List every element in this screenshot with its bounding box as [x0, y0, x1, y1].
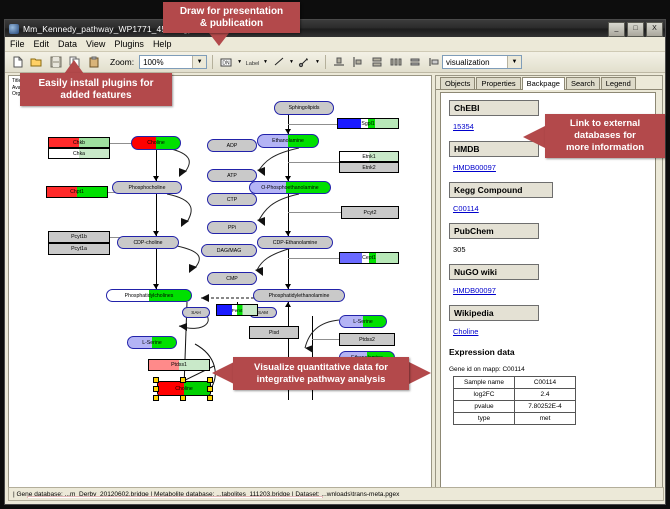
- node-pemt[interactable]: Pemt: [216, 304, 258, 316]
- menu-help[interactable]: Help: [153, 39, 172, 49]
- node-label: O-Phosphoethanolamine: [261, 185, 318, 191]
- db-header-nugo: NuGO wiki: [449, 264, 539, 280]
- db-value-pubchem: 305: [453, 245, 466, 254]
- node-label: Etnk2: [362, 165, 375, 171]
- stack-center-icon[interactable]: [369, 54, 386, 71]
- node-chpt1[interactable]: Chpt1: [46, 186, 108, 198]
- node-choline-selected[interactable]: Choline: [157, 381, 211, 396]
- node-label: Pcyt1a: [71, 246, 87, 252]
- node-dag-mag[interactable]: DAG/MAG: [201, 244, 257, 257]
- node-ctp[interactable]: CTP: [207, 193, 257, 206]
- db-header-kegg: Kegg Compound: [449, 182, 553, 198]
- svg-text:DN: DN: [222, 61, 230, 67]
- node-label: Chpt1: [70, 189, 84, 195]
- callout-draw: Draw for presentation& publication: [163, 2, 300, 33]
- menu-data[interactable]: Data: [58, 39, 77, 49]
- edge-cdpcholine-ptdcholine: [156, 249, 157, 289]
- line-icon[interactable]: [270, 54, 287, 71]
- node-label: Pisd: [269, 330, 279, 336]
- node-ppi[interactable]: PPi: [207, 221, 257, 234]
- node-label: ATP: [227, 173, 237, 179]
- db-link-chebi[interactable]: 15354: [453, 122, 474, 131]
- tab-search[interactable]: Search: [566, 77, 600, 89]
- node-ethanolamine[interactable]: Ethanolamine: [257, 134, 319, 148]
- node-ptdss1[interactable]: Ptdss1: [148, 359, 210, 371]
- db-link-wikipedia[interactable]: Choline: [453, 327, 478, 336]
- align-left-icon[interactable]: [350, 54, 367, 71]
- node-label: SAM: [258, 310, 268, 315]
- table-cell-value: 2.4: [515, 389, 576, 401]
- distribute-icon[interactable]: [388, 54, 405, 71]
- connector-sgpl1: [288, 124, 337, 125]
- node-label: Choline: [175, 386, 193, 392]
- tool-bar: Zoom: 100% ▼ DN ▼ Label ▼ ▼ ▼: [5, 52, 665, 73]
- db-header-chebi: ChEBI: [449, 100, 539, 116]
- align-top-icon[interactable]: [331, 54, 348, 71]
- screenshot-root: Mm_Kennedy_pathway_WP1771_45176.gpml - P…: [0, 0, 670, 509]
- menu-bar: File Edit Data View Plugins Help: [5, 37, 665, 52]
- node-label: Phosphatidylcholines: [125, 293, 174, 299]
- node-label: Pcyt1b: [71, 234, 87, 240]
- node-label: Ptdss1: [171, 362, 187, 368]
- db-link-nugo[interactable]: HMDB00097: [453, 286, 496, 295]
- node-l-serine-left[interactable]: L-Serine: [127, 336, 177, 349]
- callout-plugins-text: Easily install plugins foradded features: [38, 78, 153, 102]
- expression-data-table: Sample name C00114 log2FC 2.4 pvalue 7.8…: [453, 376, 576, 425]
- open-folder-icon[interactable]: [28, 54, 45, 71]
- node-l-serine-right[interactable]: L-Serine: [339, 315, 387, 328]
- zoom-value: 100%: [143, 58, 163, 67]
- toolbar-separator-2: [325, 55, 326, 69]
- chevron-down-icon[interactable]: ▼: [192, 56, 206, 68]
- table-row: type met: [454, 413, 576, 425]
- svg-text:Label: Label: [246, 61, 260, 67]
- node-cdp-choline[interactable]: CDP-choline: [117, 236, 179, 249]
- connector-ptdss2: [312, 339, 339, 340]
- node-sphingolipids[interactable]: Sphingolipids: [274, 101, 334, 115]
- table-cell-value: 7.80252E-4: [515, 401, 576, 413]
- node-label: Choline: [147, 140, 165, 146]
- common-width-icon[interactable]: [407, 54, 424, 71]
- tab-properties[interactable]: Properties: [476, 77, 520, 89]
- maximize-button[interactable]: □: [627, 22, 644, 37]
- chevron-down-icon-line[interactable]: ▼: [289, 59, 294, 65]
- edge-ophospho-cdpetn: [288, 194, 289, 236]
- node-label: Ethanolamine: [272, 138, 304, 144]
- node-label: Chkb: [73, 140, 85, 146]
- table-cell-value: C00114: [515, 377, 576, 389]
- callout-links: Link to externaldatabases formore inform…: [545, 114, 665, 158]
- tab-objects[interactable]: Objects: [440, 77, 475, 89]
- callout-plugins: Easily install plugins foradded features: [20, 73, 172, 106]
- node-label: Cept1: [362, 255, 376, 261]
- node-label: CMP: [226, 276, 238, 282]
- node-label: Sphingolipids: [289, 105, 320, 111]
- menu-view[interactable]: View: [86, 39, 105, 49]
- node-sah[interactable]: SAH: [182, 307, 210, 318]
- paste-icon[interactable]: [85, 54, 102, 71]
- toolbar-separator: [212, 55, 213, 69]
- node-phosphatidylethanolamine[interactable]: Phosphatidylethanolamine: [253, 289, 345, 302]
- connector-etnk: [288, 162, 339, 163]
- node-label: ADP: [227, 143, 238, 149]
- node-cmp[interactable]: CMP: [207, 272, 257, 285]
- node-phosphocholine[interactable]: Phosphocholine: [112, 181, 182, 194]
- node-label: L-Serine: [353, 319, 373, 325]
- menu-plugins[interactable]: Plugins: [114, 39, 144, 49]
- new-file-icon[interactable]: [9, 54, 26, 71]
- node-label: Sgpl1: [361, 121, 374, 127]
- node-label: Pcyt2: [364, 210, 377, 216]
- node-label: Phosphocholine: [129, 185, 166, 191]
- callout-visualize-arrow-left-icon: [212, 362, 234, 384]
- tab-legend[interactable]: Legend: [601, 77, 636, 89]
- chevron-down-icon-interaction[interactable]: ▼: [315, 59, 320, 65]
- visualization-value: visualization: [446, 58, 490, 67]
- callout-draw-arrow-icon: [209, 33, 229, 46]
- pathway-canvas[interactable]: Title: Availab Organis: [8, 75, 432, 499]
- node-label: CDP-choline: [133, 240, 162, 246]
- connector-pcyt2: [288, 212, 341, 213]
- menu-file[interactable]: File: [10, 39, 25, 49]
- edge-phosphocholine-cdpcholine: [156, 194, 157, 236]
- status-bar: | Gene database: ...m_Derby_20120602.bri…: [8, 487, 664, 501]
- db-header-wikipedia: Wikipedia: [449, 305, 539, 321]
- table-row: Sample name C00114: [454, 377, 576, 389]
- node-adp[interactable]: ADP: [207, 139, 257, 152]
- node-atp[interactable]: ATP: [207, 169, 257, 182]
- node-label: CDP-Ethanolamine: [273, 240, 317, 246]
- node-chka[interactable]: Chka: [48, 148, 110, 159]
- callout-visualize-text: Visualize quantitative data forintegrati…: [254, 362, 388, 386]
- interaction-icon[interactable]: [296, 54, 313, 71]
- callout-draw-text: Draw for presentation& publication: [180, 6, 283, 30]
- callout-links-text: Link to externaldatabases formore inform…: [566, 118, 644, 154]
- callout-visualize-arrow-right-icon: [409, 362, 431, 384]
- node-pcyt1a[interactable]: Pcyt1a: [48, 243, 110, 255]
- table-cell-key: type: [454, 413, 515, 425]
- table-cell-key: log2FC: [454, 389, 515, 401]
- node-label: Ptdss2: [359, 337, 375, 343]
- connector-cept1: [288, 258, 339, 259]
- window-buttons: _ □ X: [608, 22, 663, 37]
- node-label: SAH: [191, 310, 200, 315]
- edge-cdpetn-ptdetn: [288, 249, 289, 289]
- chevron-down-icon-visualization[interactable]: ▼: [507, 56, 521, 68]
- node-label: DAG/MAG: [217, 248, 242, 254]
- db-link-hmdb[interactable]: HMDB00097: [453, 163, 496, 172]
- zoom-label: Zoom:: [110, 57, 134, 67]
- zoom-combo[interactable]: 100% ▼: [139, 55, 207, 69]
- callout-visualize: Visualize quantitative data forintegrati…: [233, 357, 409, 390]
- node-pisd[interactable]: Pisd: [249, 326, 299, 339]
- node-cept1[interactable]: Cept1: [339, 252, 399, 264]
- node-label: Phosphatidylethanolamine: [269, 293, 330, 299]
- save-icon[interactable]: [47, 54, 64, 71]
- callout-links-arrow-icon: [523, 126, 545, 148]
- node-ptdss2[interactable]: Ptdss2: [339, 333, 395, 346]
- node-pcyt1b[interactable]: Pcyt1b: [48, 231, 110, 243]
- table-row: log2FC 2.4: [454, 389, 576, 401]
- node-etnk2[interactable]: Etnk2: [339, 162, 399, 173]
- bring-front-icon[interactable]: [426, 54, 443, 71]
- chevron-down-icon-label[interactable]: ▼: [263, 59, 268, 65]
- visualization-combo[interactable]: visualization ▼: [442, 55, 522, 69]
- node-sgpl1[interactable]: Sgpl1: [337, 118, 399, 129]
- node-pcyt2[interactable]: Pcyt2: [341, 206, 399, 219]
- node-cdp-ethanolamine[interactable]: CDP-Ethanolamine: [257, 236, 333, 249]
- callout-plugins-arrow-icon: [64, 60, 84, 74]
- label-icon[interactable]: Label: [244, 54, 261, 71]
- table-cell-key: Sample name: [454, 377, 515, 389]
- table-cell-value: met: [515, 413, 576, 425]
- chevron-down-icon-datanode[interactable]: ▼: [237, 59, 242, 65]
- node-chkb[interactable]: Chkb: [48, 137, 110, 148]
- node-etnk1[interactable]: Etnk1: [339, 151, 399, 162]
- node-label: L-Serine: [142, 340, 162, 346]
- app-icon: [9, 24, 19, 34]
- table-row: pvalue 7.80252E-4: [454, 401, 576, 413]
- db-link-kegg[interactable]: C00114: [453, 204, 479, 213]
- node-choline-top[interactable]: Choline: [131, 136, 181, 150]
- arrow-icon-8: [285, 302, 291, 307]
- gene-id-line: Gene id on mapp: C00114: [449, 366, 655, 373]
- node-label: PPi: [228, 225, 236, 231]
- title-bar: Mm_Kennedy_pathway_WP1771_45176.gpml - P…: [5, 20, 665, 37]
- menu-edit[interactable]: Edit: [34, 39, 50, 49]
- db-header-pubchem: PubChem: [449, 223, 539, 239]
- table-cell-key: pvalue: [454, 401, 515, 413]
- tab-backpage[interactable]: Backpage: [522, 77, 565, 90]
- node-label: CTP: [227, 197, 237, 203]
- minimize-button[interactable]: _: [608, 22, 625, 37]
- datanode-icon[interactable]: DN: [218, 54, 235, 71]
- close-button[interactable]: X: [646, 22, 663, 37]
- node-label: Pemt: [232, 308, 243, 313]
- side-panel-tabs: Objects Properties Backpage Search Legen…: [436, 76, 662, 90]
- node-label: Chka: [73, 151, 85, 157]
- node-o-phosphoethanolamine[interactable]: O-Phosphoethanolamine: [249, 181, 331, 194]
- node-label: Etnk1: [362, 154, 375, 160]
- node-phosphatidylcholines[interactable]: Phosphatidylcholines: [106, 289, 192, 302]
- expression-data-heading: Expression data: [449, 347, 655, 357]
